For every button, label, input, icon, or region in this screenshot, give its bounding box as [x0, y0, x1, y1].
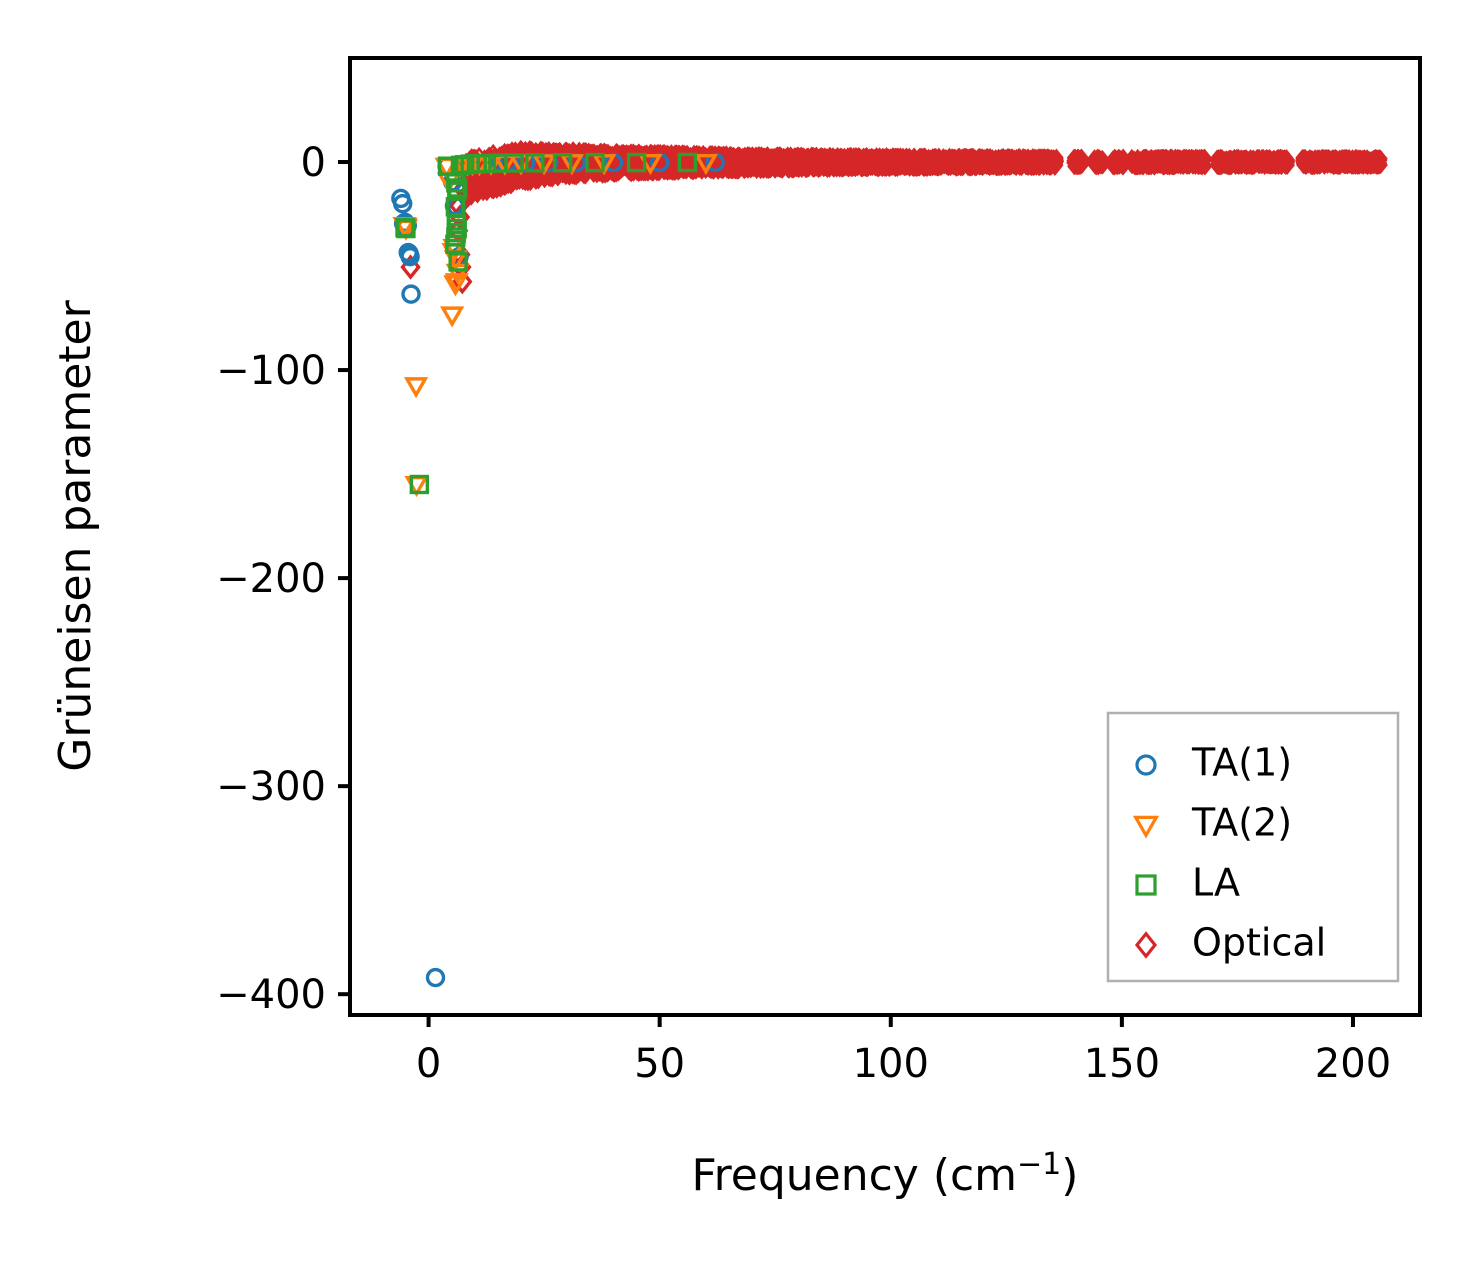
x-tick-label: 200	[1315, 1041, 1391, 1087]
legend-label: LA	[1192, 861, 1240, 905]
y-tick-label: 0	[301, 140, 326, 186]
y-axis-label: Grüneisen parameter	[50, 299, 101, 771]
x-tick-label: 150	[1084, 1041, 1160, 1087]
legend-label: TA(2)	[1191, 801, 1292, 845]
legend[interactable]: TA(1)TA(2)LAOptical	[1108, 713, 1398, 981]
figure-canvas: 050100150200 0−100−200−300−400 Frequency…	[0, 0, 1480, 1264]
x-tick-label: 50	[634, 1041, 685, 1087]
y-tick-label: −400	[216, 972, 326, 1018]
x-tick-label: 0	[416, 1041, 441, 1087]
gruneisen-scatter-plot: 050100150200 0−100−200−300−400 Frequency…	[0, 0, 1480, 1264]
y-tick-label: −100	[216, 348, 326, 394]
y-tick-label: −300	[216, 764, 326, 810]
y-tick-label: −200	[216, 556, 326, 602]
legend-label: TA(1)	[1191, 741, 1292, 785]
x-tick-label: 100	[853, 1041, 929, 1087]
legend-label: Optical	[1192, 921, 1326, 965]
